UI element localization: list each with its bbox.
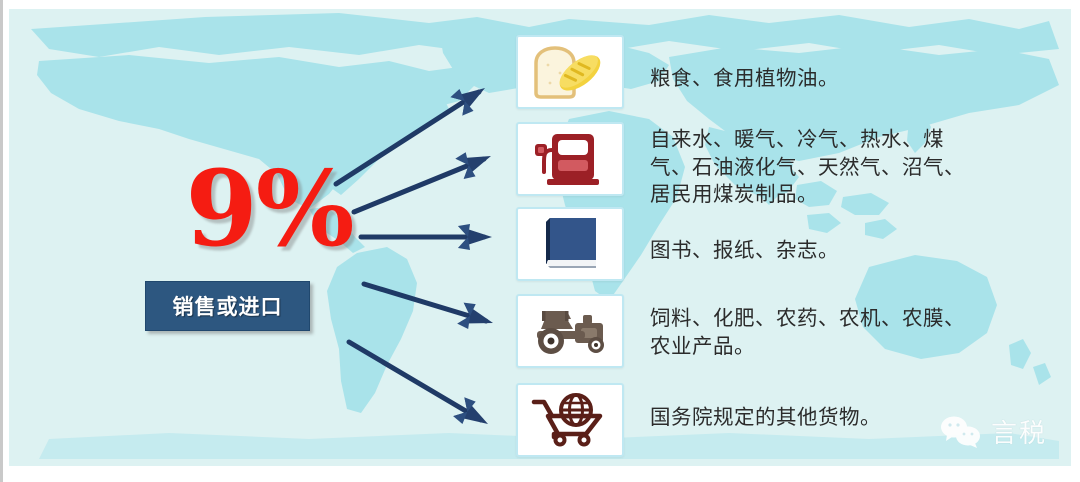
shopping-cart-globe-icon: [530, 392, 610, 448]
desc-tractor: 饲料、化肥、农药、农机、农膜、 农业产品。: [650, 305, 1070, 360]
desc-line: 粮食、食用植物油。: [650, 65, 1070, 93]
desc-line: 自来水、暖气、冷气、热水、煤: [650, 126, 1070, 154]
desc-line: 气、石油液化气、天然气、沼气、: [650, 154, 1070, 182]
arrow-4: [364, 284, 497, 335]
desc-line: 图书、报纸、杂志。: [650, 237, 1070, 265]
card-other-goods[interactable]: [516, 383, 624, 457]
book-icon: [538, 216, 602, 272]
watermark-label: 言税: [991, 413, 1047, 450]
wechat-watermark: 言税: [939, 413, 1047, 450]
card-bread[interactable]: [516, 35, 624, 109]
infographic-poster: 9% 销售或进口: [0, 0, 1080, 482]
desc-line: 饲料、化肥、农药、农机、农膜、: [650, 305, 1070, 333]
arrow-2: [354, 144, 496, 212]
card-tractor[interactable]: [516, 294, 624, 368]
desc-book: 图书、报纸、杂志。: [650, 237, 1070, 265]
arrow-3: [361, 224, 492, 250]
desc-line: 居民用煤炭制品。: [650, 181, 1070, 209]
bread-icon: [528, 43, 612, 101]
card-fuel[interactable]: [516, 122, 624, 196]
desc-fuel: 自来水、暖气、冷气、热水、煤 气、石油液化气、天然气、沼气、 居民用煤炭制品。: [650, 126, 1070, 209]
desc-bread: 粮食、食用植物油。: [650, 65, 1070, 93]
map-stage: 9% 销售或进口: [9, 9, 1071, 466]
tractor-icon: [527, 305, 613, 357]
card-book[interactable]: [516, 207, 624, 281]
arrow-5: [349, 342, 495, 435]
fuel-pump-icon: [532, 130, 608, 188]
desc-line: 农业产品。: [650, 333, 1070, 361]
wechat-icon: [939, 415, 983, 449]
